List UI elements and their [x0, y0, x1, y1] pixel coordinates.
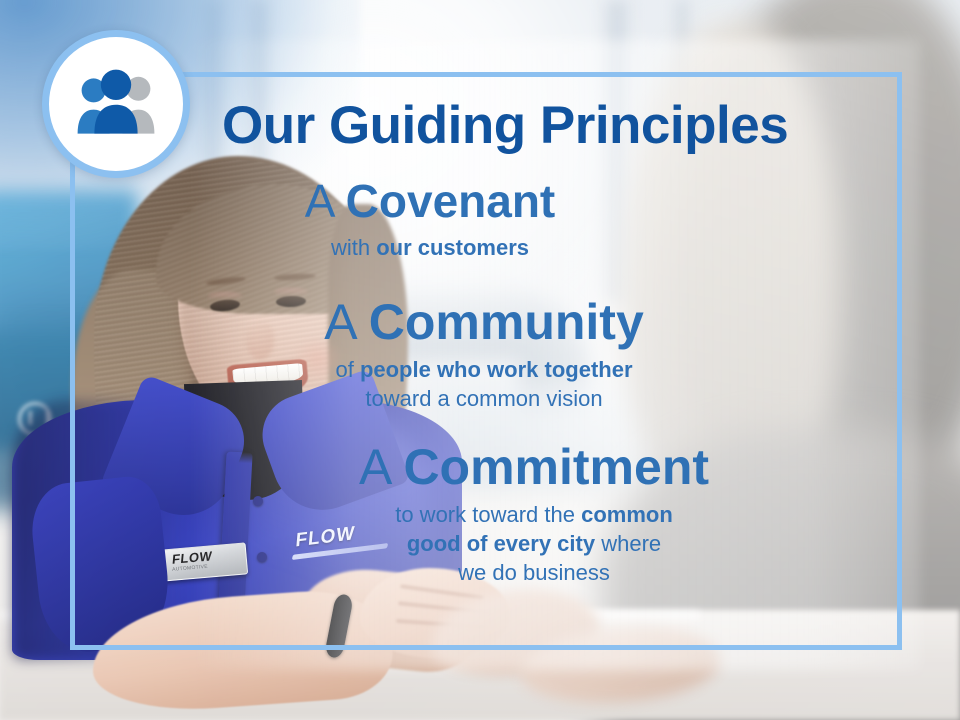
principle-keyword: Commitment [403, 439, 709, 495]
principle-subtext-part: toward a common vision [365, 386, 602, 411]
principle-covenant: A Covenant with our customers [120, 178, 890, 262]
principle-subtext-part: with [331, 235, 376, 260]
principle-subtext-part: to work toward the [395, 502, 581, 527]
principle-subtext: with our customers [120, 233, 740, 262]
principle-keyword: Covenant [346, 175, 556, 227]
principle-commitment: A Commitment to work toward the common g… [120, 441, 890, 587]
principle-heading: A Community [120, 296, 848, 348]
principle-heading: A Commitment [178, 441, 890, 493]
principle-subtext-part: we do business [458, 560, 610, 585]
principle-keyword: Community [369, 294, 644, 350]
guiding-principles-graphic: FLOW FLOW AUTOMOTIVE Our [0, 0, 960, 720]
principle-heading: A Covenant [120, 178, 740, 226]
principle-subtext-part: where [595, 531, 661, 556]
people-group-icon [68, 68, 164, 140]
principle-article: A [359, 439, 390, 495]
principles-list: A Covenant with our customers A Communit… [120, 178, 890, 587]
principle-subtext-emphasis: good of every city [407, 531, 595, 556]
principle-subtext: to work toward the common good of every … [178, 500, 890, 587]
principle-article: A [324, 294, 355, 350]
page-title: Our Guiding Principles [222, 96, 882, 156]
principle-subtext-emphasis: our customers [376, 235, 529, 260]
people-group-badge [42, 30, 190, 178]
principle-article: A [305, 175, 333, 227]
principle-community: A Community of people who work together … [120, 296, 890, 413]
principle-subtext: of people who work together toward a com… [120, 355, 848, 413]
principle-subtext-emphasis: people who work together [360, 357, 633, 382]
principle-subtext-emphasis: common [581, 502, 673, 527]
principle-subtext-part: of [335, 357, 359, 382]
